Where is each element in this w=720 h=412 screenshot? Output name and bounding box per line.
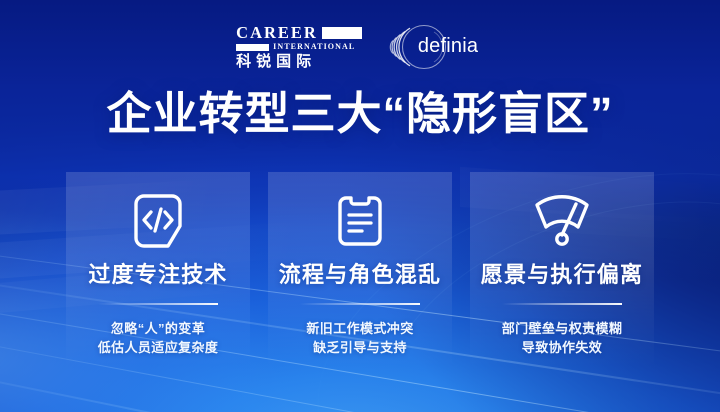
code-document-icon [132, 192, 184, 250]
card-description-line-2: 导致协作失效 [470, 338, 654, 357]
career-international-wordmark: INTERNATIONAL [273, 43, 355, 51]
card-icon-wrap [470, 190, 654, 252]
card-icon-wrap [66, 190, 250, 252]
card-group: 过度专注技术 忽略“人”的变革 低估人员适应复杂度 流程与角色混乱 新旧工作模式… [66, 172, 654, 367]
logo-row: CAREER INTERNATIONAL 科锐国际 [0, 21, 720, 73]
page-title: 企业转型三大“隐形盲区” [0, 90, 720, 138]
card-overfocus-technology[interactable]: 过度专注技术 忽略“人”的变革 低估人员适应复杂度 [66, 172, 250, 367]
definia-logo: definia [388, 24, 484, 70]
poster-canvas: CAREER INTERNATIONAL 科锐国际 [0, 0, 720, 412]
card-divider [502, 303, 622, 305]
career-logo-block [322, 27, 362, 39]
card-description-line-2: 低估人员适应复杂度 [66, 338, 250, 357]
card-description-line-1: 部门壁垒与权责模糊 [470, 319, 654, 338]
card-vision-execution-gap[interactable]: 愿景与执行偏离 部门壁垒与权责模糊 导致协作失效 [470, 172, 654, 367]
card-description: 部门壁垒与权责模糊 导致协作失效 [470, 319, 654, 357]
card-divider [98, 303, 218, 305]
card-description-line-1: 忽略“人”的变革 [66, 319, 250, 338]
card-process-role-chaos[interactable]: 流程与角色混乱 新旧工作模式冲突 缺乏引导与支持 [268, 172, 452, 367]
card-description-line-2: 缺乏引导与支持 [268, 338, 452, 357]
gauge-speedometer-icon [531, 192, 593, 250]
card-icon-wrap [268, 190, 452, 252]
card-description-line-1: 新旧工作模式冲突 [268, 319, 452, 338]
career-international-logo: CAREER INTERNATIONAL 科锐国际 [236, 25, 362, 70]
card-title: 愿景与执行偏离 [470, 264, 654, 286]
career-logo-chinese-name: 科锐国际 [236, 54, 316, 69]
clipboard-lines-icon [334, 192, 386, 250]
definia-wordmark: definia [418, 36, 478, 56]
card-description: 新旧工作模式冲突 缺乏引导与支持 [268, 319, 452, 357]
career-logo-bar [236, 44, 269, 51]
card-title: 流程与角色混乱 [268, 264, 452, 286]
card-title: 过度专注技术 [66, 264, 250, 286]
card-divider [300, 303, 420, 305]
career-logo-second-line: INTERNATIONAL [236, 43, 355, 51]
career-logo-top-line: CAREER [236, 25, 362, 42]
card-description: 忽略“人”的变革 低估人员适应复杂度 [66, 319, 250, 357]
career-wordmark: CAREER [236, 25, 318, 42]
